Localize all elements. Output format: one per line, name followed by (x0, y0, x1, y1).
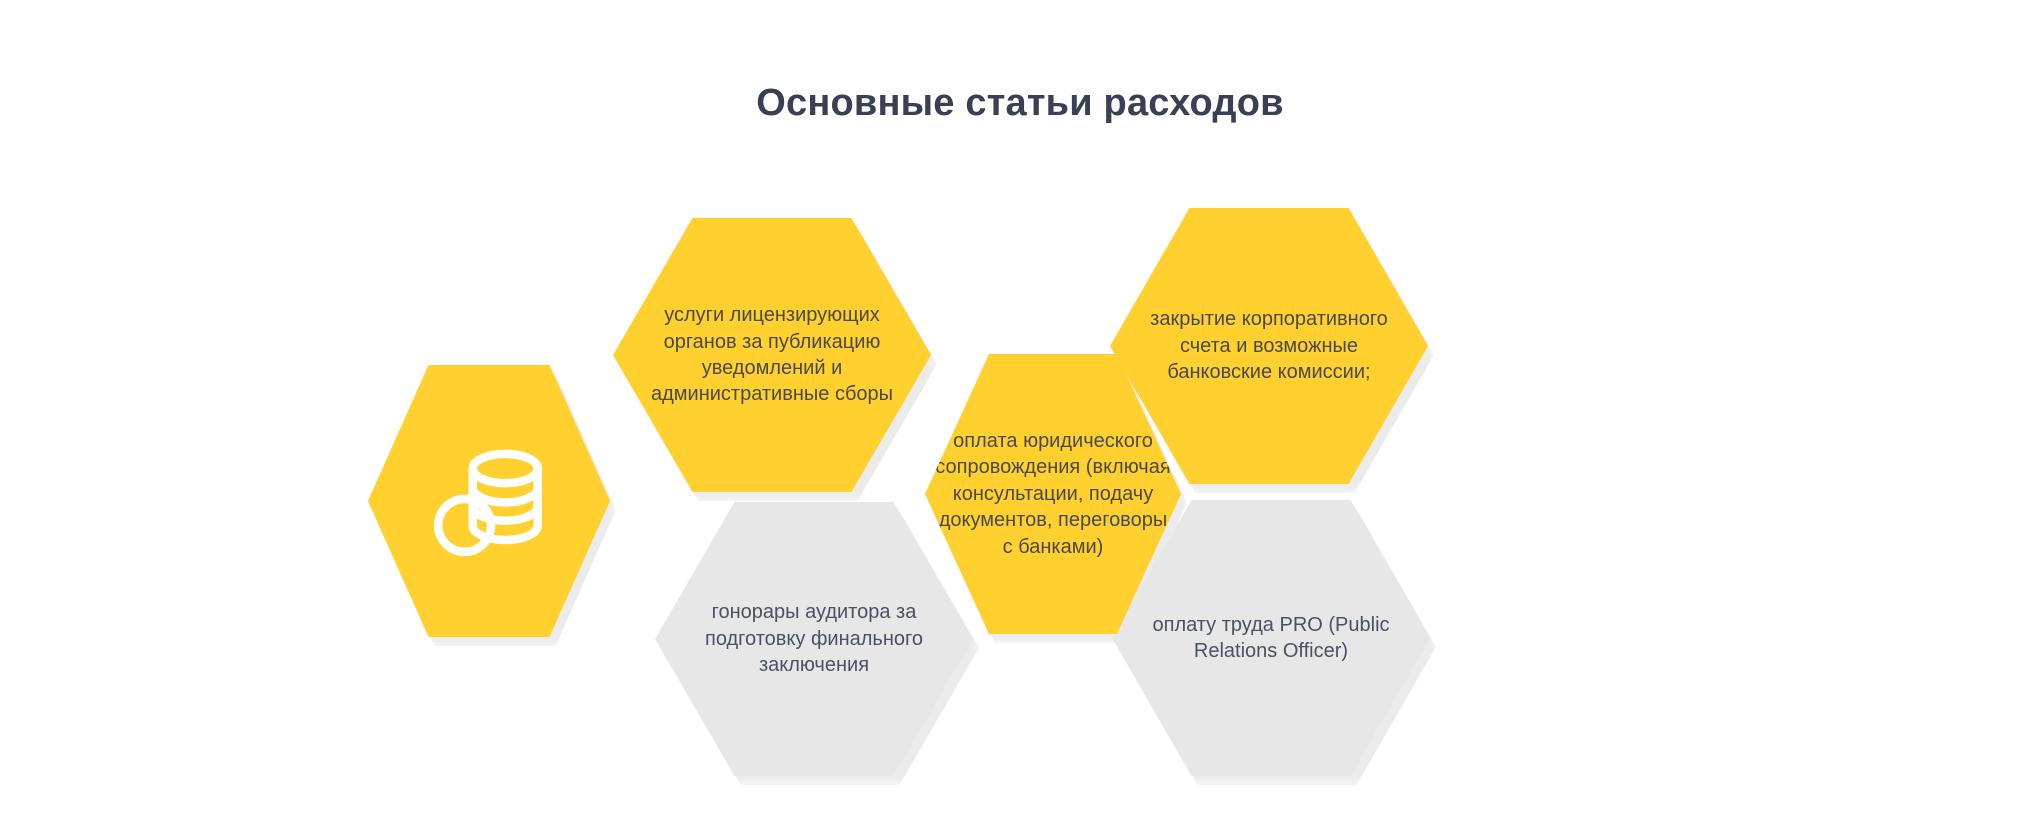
hex-label-pro: оплату труда PRO (Public Relations Offic… (1147, 612, 1395, 665)
hex-label-bank: закрытие корпоративного счета и возможны… (1142, 306, 1396, 385)
honeycomb-diagram: услуги лицензирующих органов за публикац… (0, 0, 2040, 840)
hex-label-auditor: гонорары аудитора за подготовку финально… (693, 599, 935, 678)
coin-stack-icon (424, 436, 554, 566)
slide-canvas: Основные статьи расходов услуги лицензир… (0, 0, 2040, 840)
hex-label-licensing: услуги лицензирующих органов за публикац… (648, 302, 896, 408)
hex-label-legal: оплата юридического сопровождения (включ… (935, 428, 1171, 560)
